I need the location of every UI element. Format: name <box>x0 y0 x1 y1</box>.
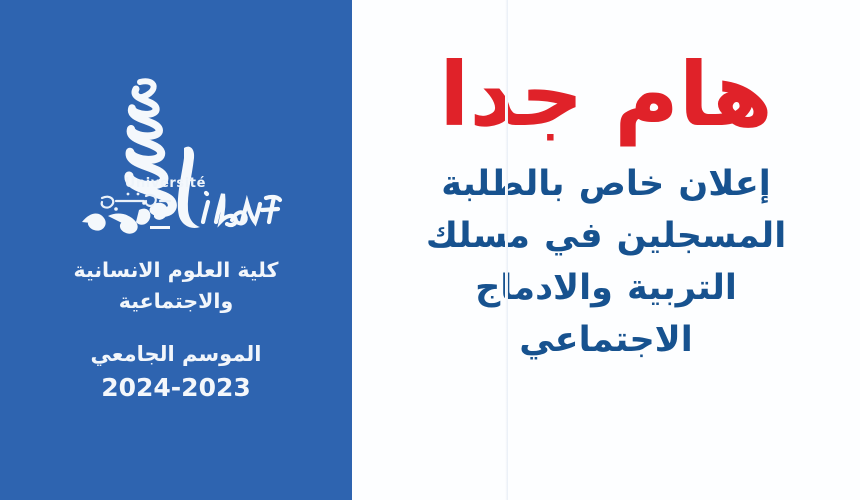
ibn-tofail-university-logo: Université <box>66 70 286 245</box>
faculty-name: كلية العلوم الانسانية والاجتماعية <box>0 255 352 317</box>
academic-season-label: الموسم الجامعي <box>0 339 352 369</box>
faculty-name-line-2: والاجتماعية <box>0 286 352 317</box>
university-logo-svg: Université <box>66 70 286 245</box>
page-title: هام جدا <box>439 36 773 154</box>
logo-ibn-tofail-script <box>203 193 280 225</box>
announcement-text-panel: هام جدا إعلان خاص بالطلبة المسجلين في مس… <box>352 0 860 500</box>
academic-season: الموسم الجامعي 2024-2023 <box>0 339 352 405</box>
university-identity-panel: Université كلية العلوم الانسانية وال <box>0 0 352 500</box>
faculty-name-line-1: كلية العلوم الانسانية <box>0 255 352 286</box>
academic-season-years: 2024-2023 <box>0 371 352 405</box>
announcement-body-text: إعلان خاص بالطلبة المسجلين في مسلك الترب… <box>391 158 821 366</box>
announcement-banner: Université كلية العلوم الانسانية وال <box>0 0 860 500</box>
logo-universite-text: Université <box>125 176 206 191</box>
